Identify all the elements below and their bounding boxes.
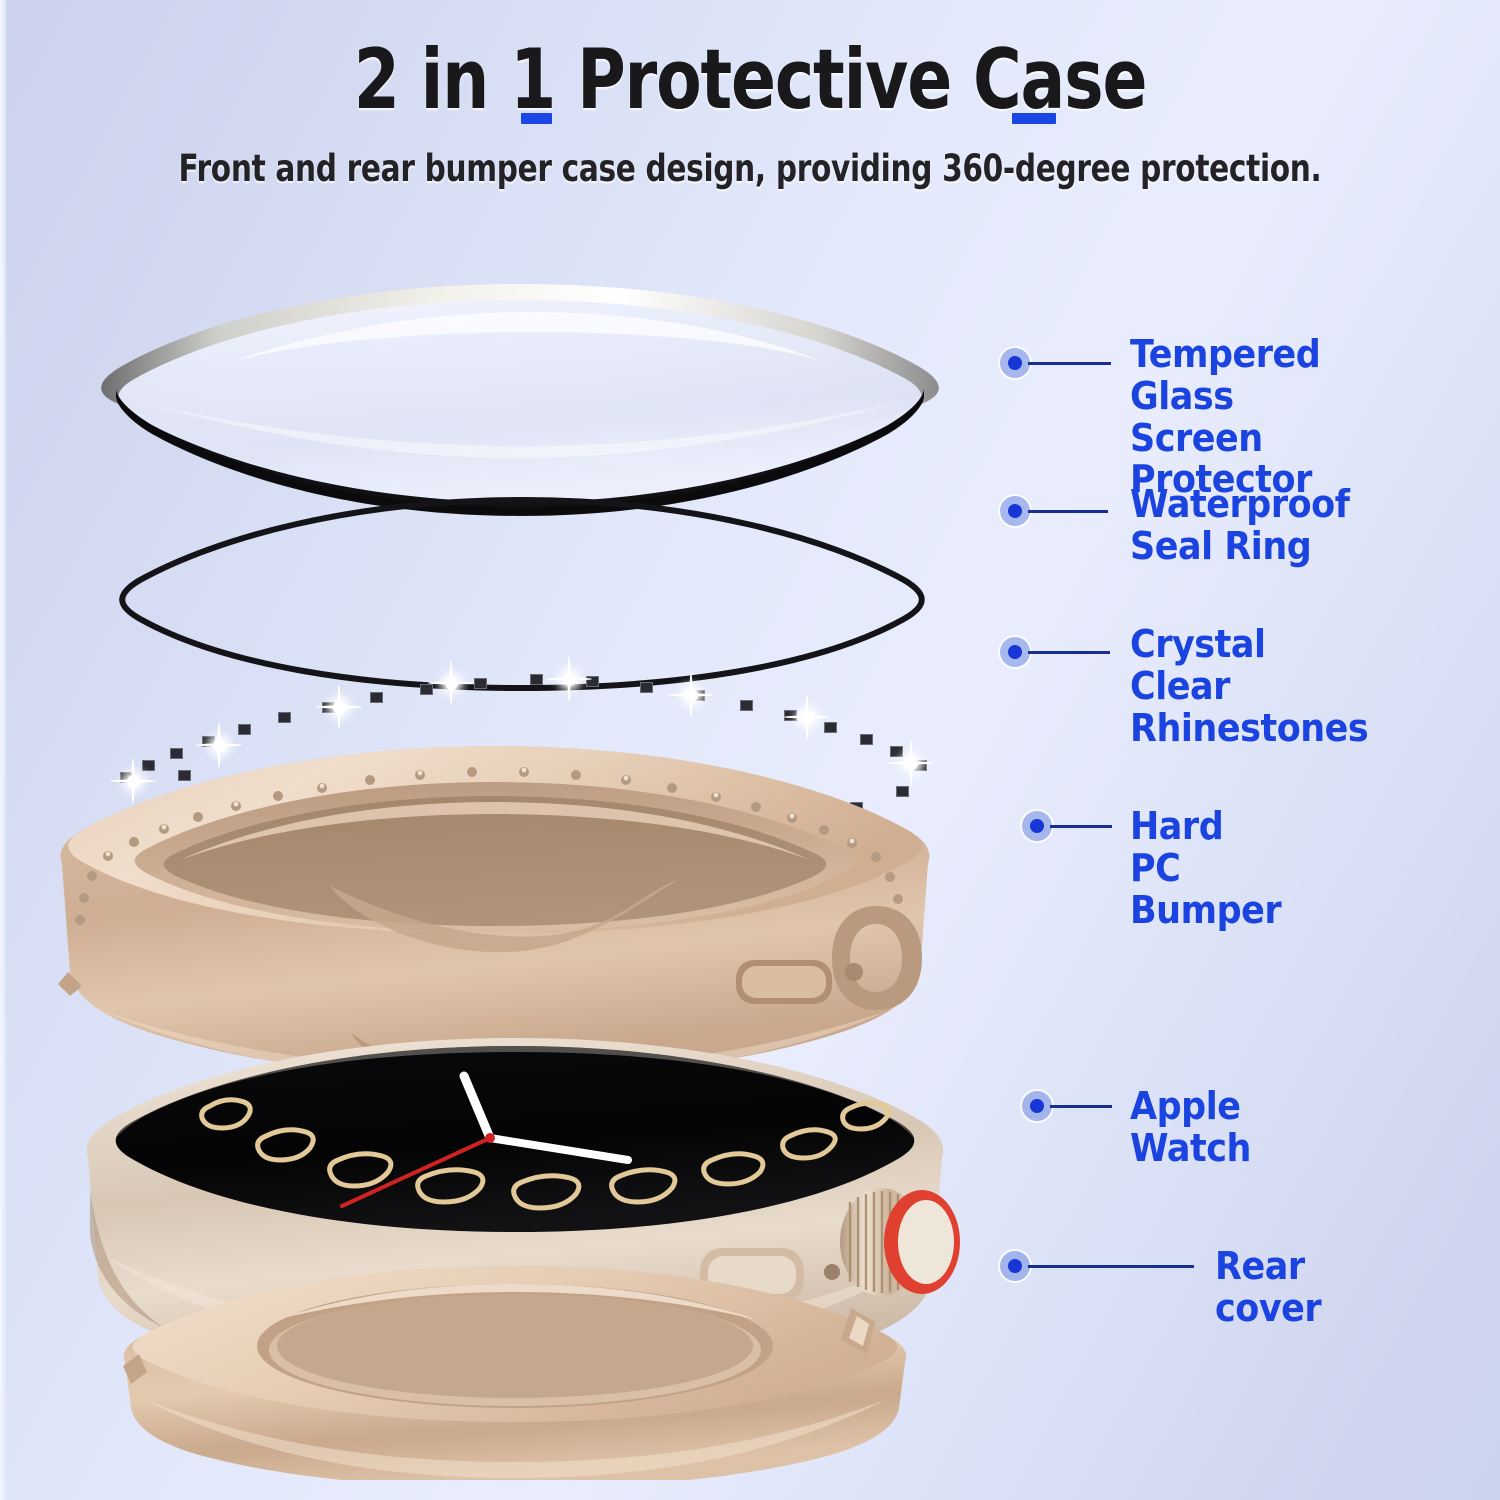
callout-line-hard-pc-bumper <box>1050 825 1112 828</box>
callout-label-crystal-clear-rhinestones: Crystal Clear Rhinestones <box>1130 624 1368 749</box>
callout-label-rear-cover: Rear cover <box>1215 1246 1321 1330</box>
page-subtitle: Front and rear bumper case design, provi… <box>150 121 1350 190</box>
callout-dot-apple-watch[interactable] <box>1022 1091 1052 1121</box>
callout-line-crystal-clear-rhinestones <box>1028 651 1110 654</box>
callout-line-tempered-glass <box>1028 362 1111 365</box>
title-underline-accent-2 <box>1012 113 1056 124</box>
product-infographic: 2 in 1 Protective Case Front and rear bu… <box>0 0 1500 1500</box>
callout-label-hard-pc-bumper: Hard PC Bumper <box>1130 806 1281 931</box>
callout-line-rear-cover <box>1028 1265 1194 1268</box>
callout-label-tempered-glass: Tempered Glass Screen Protector <box>1130 334 1320 501</box>
callout-dot-rear-cover[interactable] <box>1000 1251 1030 1281</box>
rear-cover-layer <box>75 1250 955 1480</box>
header: 2 in 1 Protective Case Front and rear bu… <box>0 0 1500 190</box>
callout-dot-hard-pc-bumper[interactable] <box>1022 811 1052 841</box>
title-underline-accent-1 <box>521 113 552 124</box>
callout-line-waterproof-seal-ring <box>1028 510 1108 513</box>
callout-dot-tempered-glass[interactable] <box>1000 348 1030 378</box>
exploded-product-diagram <box>0 250 990 1500</box>
callout-dot-crystal-clear-rhinestones[interactable] <box>1000 637 1030 667</box>
callout-line-apple-watch <box>1050 1105 1112 1108</box>
callout-label-apple-watch: Apple Watch <box>1130 1086 1251 1170</box>
callout-label-waterproof-seal-ring: Waterproof Seal Ring <box>1130 484 1349 568</box>
callout-dot-waterproof-seal-ring[interactable] <box>1000 496 1030 526</box>
page-title: 2 in 1 Protective Case <box>150 0 1350 121</box>
